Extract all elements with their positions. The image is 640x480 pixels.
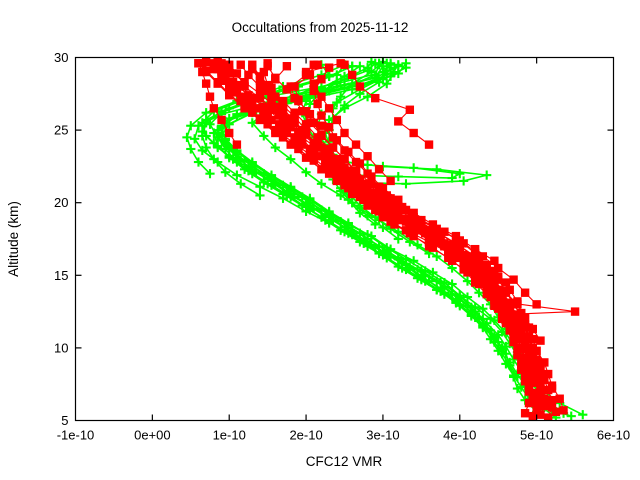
data-point-square [513,351,521,359]
data-point-square [556,395,564,403]
data-point-square [263,62,271,70]
data-point-square [279,133,287,141]
data-point-square [256,72,264,80]
data-point-square [386,177,394,185]
data-point-square [317,75,325,83]
y-tick-label: 15 [54,268,68,283]
data-point-square [356,82,364,90]
data-point-square [548,396,556,404]
data-point-square [517,322,525,330]
data-point-square [313,100,321,108]
data-point-square [283,62,291,70]
data-point-square [217,72,225,80]
x-tick-label: 6e-10 [597,428,630,443]
occultation-profile-chart: Occultations from 2025-11-12 -1e-100e+00… [0,0,640,480]
data-point-square [513,300,521,308]
data-point-square [317,122,325,130]
data-point-square [263,113,271,121]
data-point-square [333,136,341,144]
y-tick-label: 10 [54,340,68,355]
data-point-square [436,235,444,243]
data-point-square [210,104,218,112]
data-point-square [525,387,533,395]
chart-title: Occultations from 2025-11-12 [232,20,409,35]
data-point-square [225,66,233,74]
data-point-square [409,209,417,217]
data-point-square [529,358,537,366]
data-point-square [448,257,456,265]
data-point-square [237,61,245,69]
data-point-square [525,399,533,407]
y-tick-label: 20 [54,195,68,210]
data-point-square [494,286,502,294]
data-point-square [532,405,540,413]
data-point-square [394,196,402,204]
x-tick-label: -1e-10 [57,428,95,443]
data-point-square [540,371,548,379]
data-point-square [271,74,279,82]
data-point-square [509,310,517,318]
y-tick-label: 30 [54,50,68,65]
data-point-square [333,116,341,124]
data-point-square [344,148,352,156]
data-point-square [325,104,333,112]
data-point-square [509,338,517,346]
data-point-square [233,88,241,96]
x-tick-label: 0e+00 [134,428,171,443]
data-point-square [371,94,379,102]
data-point-square [548,384,556,392]
data-point-square [502,289,510,297]
data-point-square [406,217,414,225]
data-point-square [233,140,241,148]
data-point-square [529,412,537,420]
data-point-square [263,106,271,114]
data-point-square [494,305,502,313]
data-point-square [525,347,533,355]
data-point-square [310,79,318,87]
data-point-square [521,409,529,417]
data-point-square [279,97,287,105]
data-point-square [217,116,225,124]
data-point-square [536,360,544,368]
data-point-square [429,244,437,252]
data-point-square [340,61,348,69]
data-point-square [521,289,529,297]
data-point-square [306,110,314,118]
data-point-square [356,187,364,195]
data-point-square [502,299,510,307]
data-point-square [502,316,510,324]
x-tick-label: 5e-10 [520,428,553,443]
data-point-square [532,300,540,308]
data-point-square [509,329,517,337]
data-point-square [244,71,252,79]
data-point-square [394,216,402,224]
data-point-square [367,199,375,207]
data-point-square [287,114,295,122]
data-point-square [344,175,352,183]
data-point-square [317,93,325,101]
data-point-square [294,97,302,105]
data-point-square [217,59,225,67]
data-point-square [248,108,256,116]
data-point-square [529,367,537,375]
data-point-square [440,242,448,250]
data-point-square [521,335,529,343]
data-point-square [279,124,287,132]
data-point-square [490,257,498,265]
data-point-square [256,82,264,90]
data-point-square [317,111,325,119]
data-point-square [521,313,529,321]
data-point-square [475,280,483,288]
data-point-square [486,293,494,301]
data-point-square [325,123,333,131]
x-axis-label: CFC12 VMR [306,454,383,469]
data-point-square [352,140,360,148]
x-tick-label: 4e-10 [443,428,476,443]
data-point-square [429,220,437,228]
data-point-square [194,59,202,67]
x-tick-label: 1e-10 [213,428,246,443]
data-point-square [313,61,321,69]
y-tick-label: 5 [61,413,68,428]
data-point-square [517,363,525,371]
x-tick-label: 3e-10 [366,428,399,443]
x-tick-label: 2e-10 [289,428,322,443]
data-point-square [263,120,271,128]
data-point-square [333,162,341,170]
data-point-square [471,245,479,253]
data-point-square [310,156,318,164]
data-point-square [559,406,567,414]
data-point-square [394,117,402,125]
plot-canvas: Occultations from 2025-11-12 -1e-100e+00… [0,0,640,480]
data-point-square [310,139,318,147]
data-point-square [471,258,479,266]
data-point-square [202,79,210,87]
data-point-square [248,61,256,69]
data-point-square [298,126,306,134]
data-point-square [248,101,256,109]
data-point-square [279,107,287,115]
data-point-square [348,71,356,79]
data-point-square [571,307,579,315]
data-point-square [325,63,333,71]
data-point-square [267,84,275,92]
data-point-square [529,325,537,333]
data-point-square [409,228,417,236]
data-point-square [521,374,529,382]
data-point-square [379,203,387,211]
data-point-square [302,68,310,76]
data-point-square [536,336,544,344]
y-axis-label: Altitude (km) [6,201,21,277]
data-point-square [321,151,329,159]
data-point-square [406,106,414,114]
data-point-square [375,165,383,173]
data-point-square [540,402,548,410]
data-point-square [363,152,371,160]
y-tick-label: 25 [54,123,68,138]
data-point-square [294,145,302,153]
data-point-square [456,246,464,254]
data-point-square [425,229,433,237]
data-point-square [283,85,291,93]
data-point-square [486,271,494,279]
data-point-square [532,379,540,387]
data-point-square [367,172,375,180]
data-point-square [356,159,364,167]
data-point-square [256,90,264,98]
data-point-square [225,84,233,92]
data-point-square [271,103,279,111]
data-point-square [452,232,460,240]
data-point-square [536,390,544,398]
data-point-square [237,97,245,105]
data-point-square [340,129,348,137]
data-point-square [225,129,233,137]
data-point-square [425,140,433,148]
data-point-square [502,278,510,286]
data-point-square [386,194,394,202]
data-point-square [240,78,248,86]
data-point-square [552,408,560,416]
data-point-square [379,184,387,192]
data-point-square [509,275,517,283]
data-point-square [206,93,214,101]
data-point-square [390,206,398,214]
data-point-square [463,268,471,276]
data-point-square [198,68,206,76]
data-point-square [375,193,383,201]
data-point-square [248,94,256,102]
data-point-square [409,129,417,137]
